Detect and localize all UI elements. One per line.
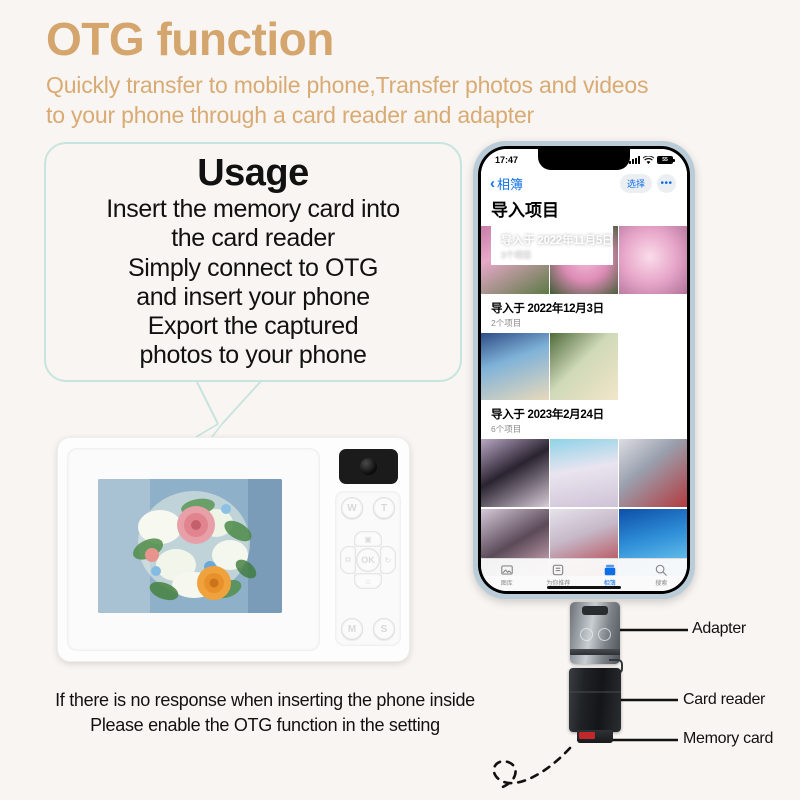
subtitle-line-1: Quickly transfer to mobile phone,Transfe… [46, 70, 800, 100]
wifi-icon [643, 156, 654, 165]
dpad-up-playback-button[interactable]: ▣ [354, 531, 382, 547]
adapter-band [570, 649, 620, 655]
photo-thumbnail[interactable] [550, 439, 618, 507]
photo-section: 导入于 2022年11月5日 3个项目 [481, 226, 687, 294]
search-icon [654, 563, 668, 577]
status-bar-time: 17:47 [495, 155, 518, 165]
photo-thumbnail[interactable] [619, 226, 687, 294]
callout-label-card-reader: Card reader [683, 691, 765, 709]
camera-front-panel [67, 448, 320, 651]
otg-adapter-assembly [565, 602, 625, 754]
camera-dpad[interactable]: ▣ ⧉ ↻ ⌂ OK [340, 531, 396, 589]
flower-bouquet-photo [98, 479, 282, 613]
photo-thumbnail[interactable] [481, 439, 549, 507]
camera-zoom-wide-button[interactable]: W [341, 497, 363, 519]
status-bar-indicators: 55 [629, 156, 673, 165]
for-you-icon [551, 563, 565, 577]
tab-for-you[interactable]: 为你推荐 [533, 563, 585, 587]
section-count-label: 3个项目 [501, 249, 613, 261]
albums-icon [603, 563, 617, 577]
camera-zoom-tele-button[interactable]: T [373, 497, 395, 519]
dpad-right-button[interactable]: ↻ [380, 546, 396, 574]
album-title: 导入项目 [481, 193, 687, 226]
adapter [570, 602, 620, 664]
dpad-down-button[interactable]: ⌂ [354, 573, 382, 589]
photo-section-header: 导入于 2022年11月5日 3个项目 [491, 226, 613, 265]
camera-control-panel: W T ▣ ⧉ ↻ ⌂ OK M S [335, 491, 401, 646]
header: OTG function Quickly transfer to mobile … [0, 0, 800, 130]
battery-percent-text: 55 [658, 157, 672, 163]
phone-notch [538, 149, 630, 170]
camera-screen [98, 479, 282, 613]
back-to-albums-button[interactable]: ‹ 相簿 [490, 174, 523, 193]
adapter-icon-usb [580, 628, 593, 641]
adapter-port [582, 606, 608, 615]
adapter-icon-lightning [598, 628, 611, 641]
photo-thumbnail[interactable] [550, 333, 618, 401]
subtitle-line-2: to your phone through a card reader and … [46, 100, 800, 130]
photo-grid[interactable] [481, 333, 687, 401]
cellular-signal-icon [629, 156, 640, 164]
usage-line: the card reader [46, 224, 460, 253]
photo-section-header: 导入于 2022年12月3日 2个项目 [481, 294, 687, 333]
callout-label-memory-card: Memory card [683, 730, 773, 748]
tab-albums[interactable]: 相簿 [584, 563, 636, 587]
usage-line: Simply connect to OTG [46, 254, 460, 283]
usage-line: Export the captured [46, 312, 460, 341]
footer-note: If there is no response when inserting t… [0, 688, 530, 738]
card-reader-seam [569, 691, 621, 693]
ios-nav-bar: ‹ 相簿 选择 ••• [481, 171, 687, 193]
section-count-label: 2个项目 [491, 317, 687, 329]
camera-lens [339, 449, 398, 484]
usage-line: photos to your phone [46, 341, 460, 370]
photo-section-header: 导入于 2023年2月24日 6个项目 [481, 400, 687, 439]
callout-label-adapter: Adapter [692, 620, 746, 638]
section-count-label: 6个项目 [491, 423, 687, 435]
dpad-ok-button[interactable]: OK [356, 548, 380, 572]
camera-shutter-button[interactable]: S [373, 618, 395, 640]
dpad-left-button[interactable]: ⧉ [340, 546, 356, 574]
photo-thumbnail[interactable] [619, 439, 687, 507]
nav-bar-actions: 选择 ••• [620, 174, 676, 193]
phone-bezel: 17:47 55 ‹ 相簿 [478, 146, 690, 594]
home-indicator [547, 586, 621, 589]
page-subtitle: Quickly transfer to mobile phone,Transfe… [0, 65, 800, 131]
tab-library[interactable]: 图库 [481, 563, 533, 587]
select-button[interactable]: 选择 [620, 174, 652, 193]
usage-callout-bubble: Usage Insert the memory card into the ca… [44, 142, 462, 382]
iphone-device: 17:47 55 ‹ 相簿 [473, 141, 695, 599]
tab-label: 图库 [501, 578, 513, 587]
photo-library-icon [500, 563, 514, 577]
footer-note-line-2: Please enable the OTG function in the se… [0, 713, 530, 738]
footer-note-line-1: If there is no response when inserting t… [0, 688, 530, 713]
section-date-label: 导入于 2022年12月3日 [491, 300, 687, 316]
usage-heading: Usage [46, 152, 460, 195]
photo-grid[interactable] [481, 439, 687, 576]
usage-line: and insert your phone [46, 283, 460, 312]
back-button-label: 相簿 [497, 174, 523, 193]
page-title: OTG function [0, 0, 800, 65]
usage-line: Insert the memory card into [46, 195, 460, 224]
section-date-label: 导入于 2022年11月5日 [501, 232, 613, 248]
memory-card [577, 730, 613, 743]
photo-thumbnail[interactable] [481, 333, 549, 401]
battery-icon: 55 [657, 156, 673, 164]
card-reader [569, 668, 621, 732]
section-date-label: 导入于 2023年2月24日 [491, 406, 687, 422]
memory-card-label [579, 732, 595, 739]
tab-label: 搜索 [655, 578, 667, 587]
photo-thumbnail[interactable] [619, 333, 687, 401]
camera-mode-button[interactable]: M [341, 618, 363, 640]
phone-screen[interactable]: 17:47 55 ‹ 相簿 [481, 149, 687, 591]
tab-search[interactable]: 搜索 [636, 563, 688, 587]
chevron-left-icon: ‹ [490, 176, 495, 191]
digital-camera-device: W T ▣ ⧉ ↻ ⌂ OK M S [57, 437, 410, 662]
more-options-button[interactable]: ••• [657, 174, 676, 193]
